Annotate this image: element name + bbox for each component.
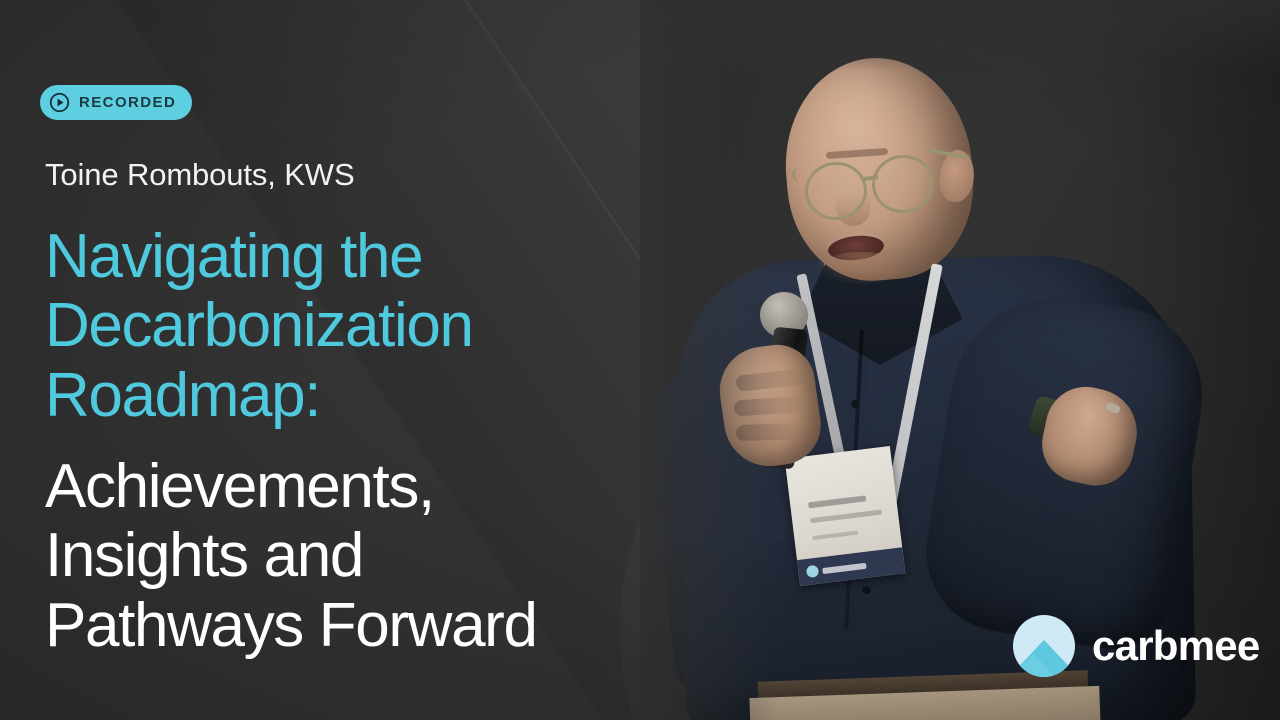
- title-highlight: Navigating the Decarbonization Roadmap:: [45, 222, 665, 430]
- webinar-title-card: RECORDED Toine Rombouts, KWS Navigating …: [0, 0, 1280, 720]
- title-subtitle-line-3: Pathways Forward: [45, 591, 785, 660]
- recorded-badge-label: RECORDED: [79, 95, 176, 110]
- title-subtitle-line-2: Insights and: [45, 521, 785, 590]
- recorded-badge[interactable]: RECORDED: [40, 85, 192, 120]
- carbmee-wordmark: carbmee: [1092, 625, 1260, 667]
- title-highlight-line-3: Roadmap:: [45, 361, 665, 430]
- play-circle-icon: [49, 92, 70, 113]
- speaker-name: Toine Rombouts, KWS: [45, 158, 355, 192]
- title-highlight-line-1: Navigating the: [45, 222, 665, 291]
- title-subtitle-line-1: Achievements,: [45, 452, 785, 521]
- title-highlight-line-2: Decarbonization: [45, 291, 665, 360]
- carbmee-logo-icon: [1012, 614, 1076, 678]
- title-subtitle: Achievements, Insights and Pathways Forw…: [45, 452, 785, 660]
- brand-lockup: carbmee: [1012, 614, 1260, 678]
